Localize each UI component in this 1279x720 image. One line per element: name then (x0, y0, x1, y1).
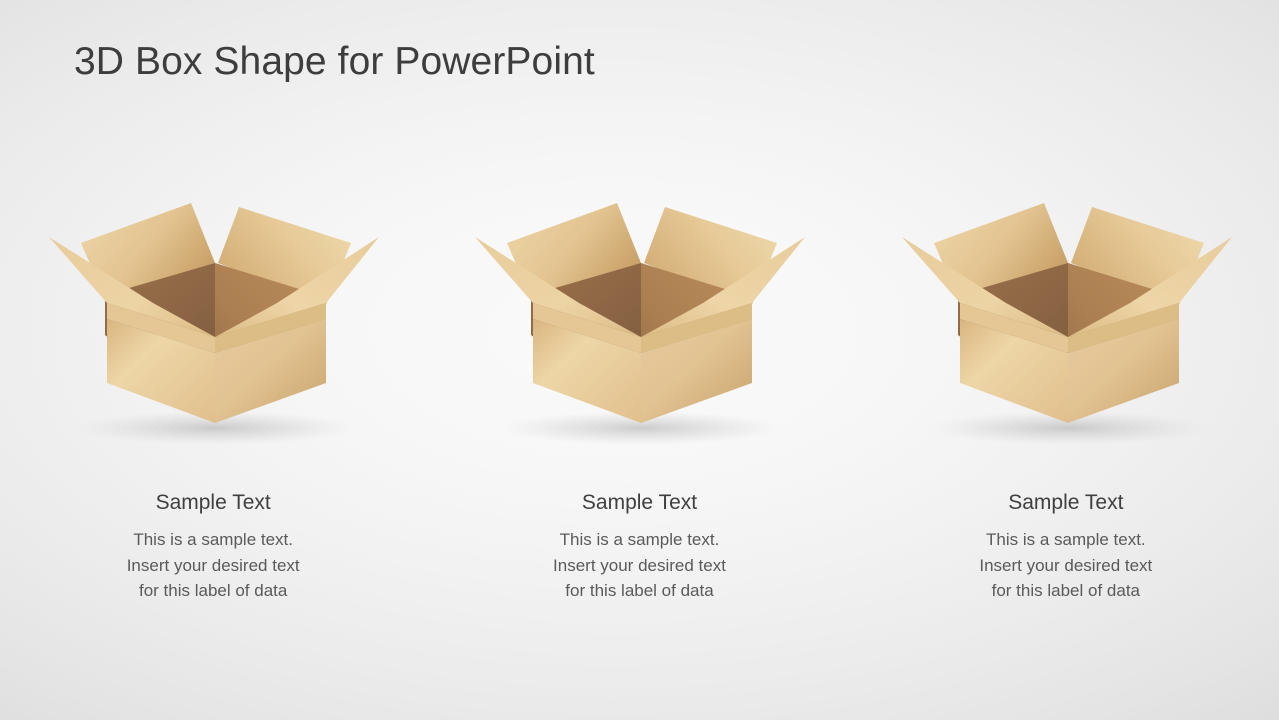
3d-open-box-1[interactable] (43, 185, 383, 455)
box-caption-2: Sample Text This is a sample text. Inser… (426, 490, 852, 604)
box-column-1: Sample Text This is a sample text. Inser… (0, 185, 426, 655)
caption-line: for this label of data (853, 578, 1279, 604)
slide-canvas: 3D Box Shape for PowerPoint (0, 0, 1279, 720)
box-column-2: Sample Text This is a sample text. Inser… (426, 185, 852, 655)
caption-line: for this label of data (0, 578, 426, 604)
page-title: 3D Box Shape for PowerPoint (74, 40, 595, 84)
caption-line: This is a sample text. (853, 527, 1279, 553)
caption-title: Sample Text (426, 490, 852, 516)
3d-open-box-3[interactable] (896, 185, 1236, 455)
caption-title: Sample Text (853, 490, 1279, 516)
caption-line: Insert your desired text (853, 553, 1279, 579)
caption-line: Insert your desired text (0, 553, 426, 579)
caption-line: for this label of data (426, 578, 852, 604)
caption-body: This is a sample text. Insert your desir… (426, 527, 852, 604)
3d-open-box-2[interactable] (469, 185, 809, 455)
caption-line: This is a sample text. (0, 527, 426, 553)
caption-line: This is a sample text. (426, 527, 852, 553)
caption-line: Insert your desired text (426, 553, 852, 579)
caption-body: This is a sample text. Insert your desir… (853, 527, 1279, 604)
box-columns-row: Sample Text This is a sample text. Inser… (0, 185, 1279, 655)
caption-title: Sample Text (0, 490, 426, 516)
box-caption-3: Sample Text This is a sample text. Inser… (853, 490, 1279, 604)
box-caption-1: Sample Text This is a sample text. Inser… (0, 490, 426, 604)
caption-body: This is a sample text. Insert your desir… (0, 527, 426, 604)
box-column-3: Sample Text This is a sample text. Inser… (853, 185, 1279, 655)
